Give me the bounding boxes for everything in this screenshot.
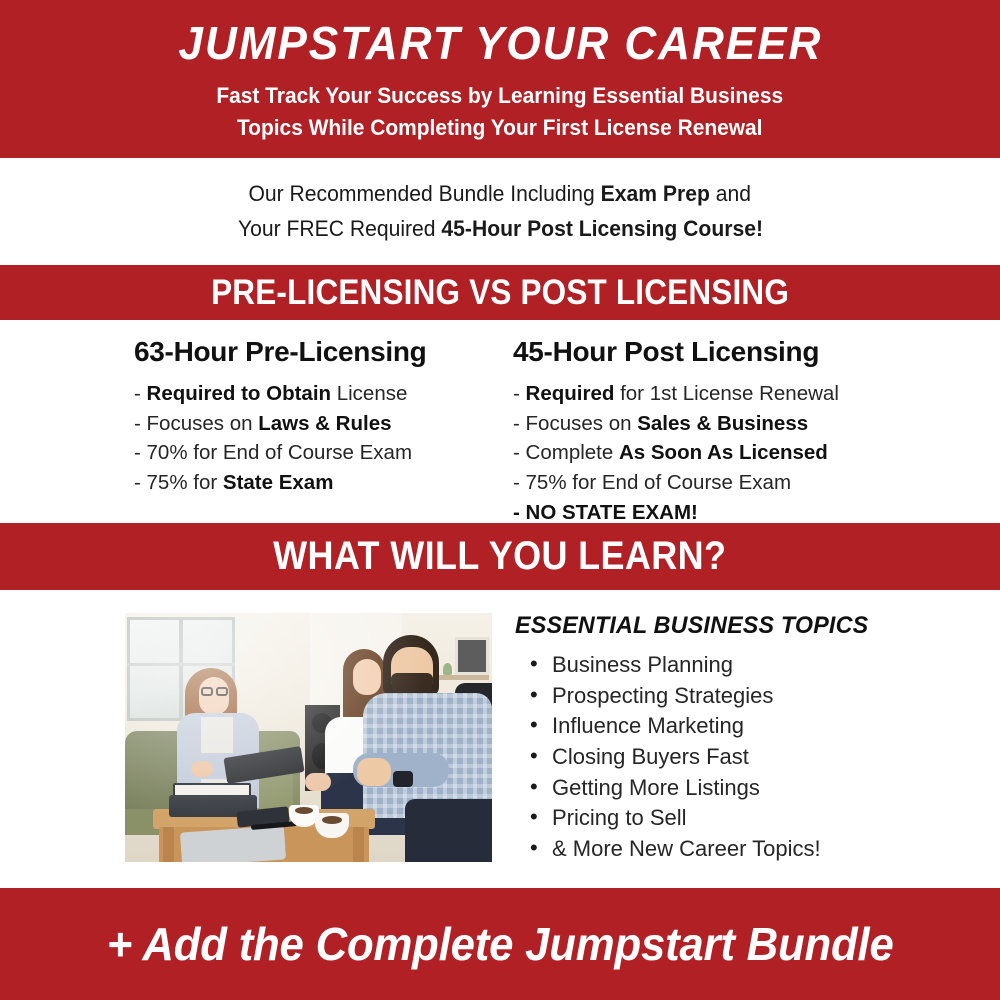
list-item: Business Planning xyxy=(530,650,978,681)
page-title: JUMPSTART YOUR CAREER xyxy=(178,20,822,66)
infographic-page: JUMPSTART YOUR CAREER Fast Track Your Su… xyxy=(0,0,1000,1000)
compare-banner: PRE-LICENSING VS POST LICENSING xyxy=(0,265,1000,320)
list-text: 75% for End of Course Exam xyxy=(526,471,792,494)
add-bundle-label: + Add the Complete Jumpstart Bundle xyxy=(107,917,894,971)
intro-section: Our Recommended Bundle Including Exam Pr… xyxy=(0,158,1000,265)
list-lead: Focuses on xyxy=(526,412,638,435)
topics-list: Business Planning Prospecting Strategies… xyxy=(508,650,978,865)
post-licensing-list: - Required for 1st License Renewal - Foc… xyxy=(513,379,1000,528)
hero-subtitle-line-2: Topics While Completing Your First Licen… xyxy=(217,112,784,144)
list-bold: Required xyxy=(526,382,615,405)
post-licensing-column: 45-Hour Post Licensing - Required for 1s… xyxy=(0,336,1000,523)
hero-subtitle-line-1: Fast Track Your Success by Learning Esse… xyxy=(217,80,784,112)
list-item: - 75% for End of Course Exam xyxy=(513,468,1000,498)
list-bold: As Soon As Licensed xyxy=(619,441,828,464)
learn-section: ESSENTIAL BUSINESS TOPICS Business Plann… xyxy=(0,590,1000,888)
list-item: - Required for 1st License Renewal xyxy=(513,379,1000,409)
intro-line-1: Our Recommended Bundle Including Exam Pr… xyxy=(249,177,752,211)
list-item: & More New Career Topics! xyxy=(530,834,978,865)
topics-heading: ESSENTIAL BUSINESS TOPICS xyxy=(515,612,971,640)
intro-line-2-bold: 45-Hour Post Licensing Course! xyxy=(441,216,763,241)
list-item: Closing Buyers Fast xyxy=(530,742,978,773)
list-item: Influence Marketing xyxy=(530,711,978,742)
list-item: Pricing to Sell xyxy=(530,803,978,834)
list-item: - Focuses on Sales & Business xyxy=(513,409,1000,439)
list-dash: - xyxy=(513,471,526,494)
intro-line-2: Your FREC Required 45-Hour Post Licensin… xyxy=(237,212,762,246)
list-item: Getting More Listings xyxy=(530,773,978,804)
learn-banner: WHAT WILL YOU LEARN? xyxy=(0,523,1000,590)
list-text: NO STATE EXAM! xyxy=(526,501,698,524)
add-bundle-banner[interactable]: + Add the Complete Jumpstart Bundle xyxy=(0,888,1000,1000)
meeting-photo xyxy=(125,613,492,862)
list-item: - Complete As Soon As Licensed xyxy=(513,438,1000,468)
learn-banner-title: WHAT WILL YOU LEARN? xyxy=(273,534,726,579)
list-dash: - xyxy=(513,412,526,435)
list-rest: for 1st License Renewal xyxy=(614,382,838,405)
intro-line-1-suffix: and xyxy=(710,181,751,206)
compare-banner-title: PRE-LICENSING VS POST LICENSING xyxy=(211,273,789,313)
intro-line-1-prefix: Our Recommended Bundle Including xyxy=(249,181,601,206)
list-lead: Complete xyxy=(526,441,619,464)
hero-subtitle: Fast Track Your Success by Learning Esse… xyxy=(217,80,784,144)
intro-line-2-prefix: Your FREC Required xyxy=(237,216,440,241)
hero-banner: JUMPSTART YOUR CAREER Fast Track Your Su… xyxy=(0,0,1000,158)
list-item: Prospecting Strategies xyxy=(530,681,978,712)
topics-column: ESSENTIAL BUSINESS TOPICS Business Plann… xyxy=(508,612,978,865)
comparison-section: 63-Hour Pre-Licensing - Required to Obta… xyxy=(0,320,1000,523)
list-dash: - xyxy=(513,501,526,524)
post-licensing-heading: 45-Hour Post Licensing xyxy=(513,336,1000,368)
intro-line-1-bold: Exam Prep xyxy=(601,181,710,206)
list-dash: - xyxy=(513,382,526,405)
list-bold: Sales & Business xyxy=(637,412,808,435)
list-dash: - xyxy=(513,441,526,464)
